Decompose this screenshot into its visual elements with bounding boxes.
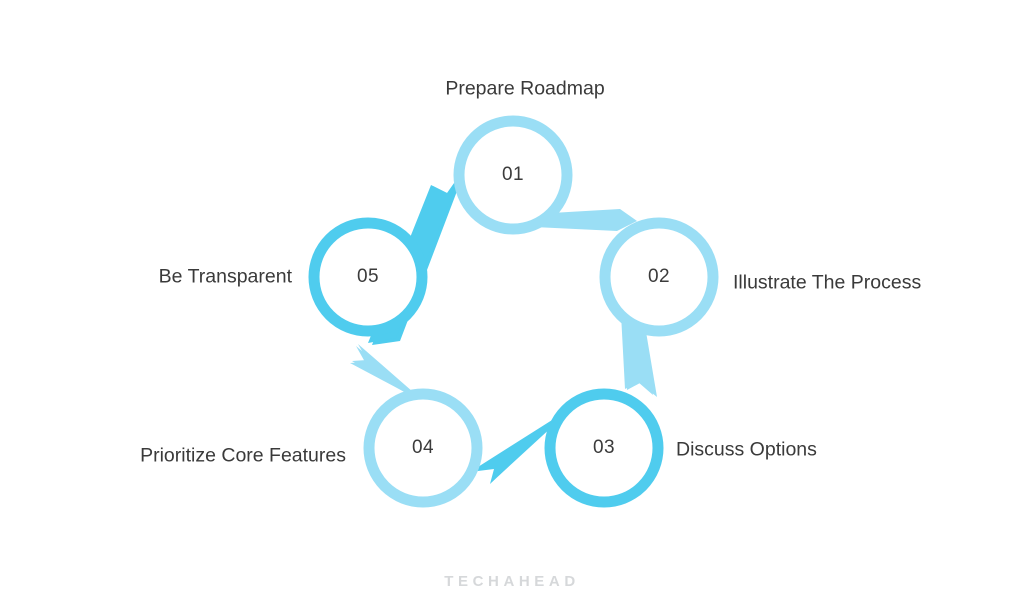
step-number-02: 02 (648, 266, 670, 288)
step-number-03: 03 (593, 437, 615, 459)
step-label-illustrate-the-process: Illustrate The Process (733, 272, 921, 295)
step-label-discuss-options: Discuss Options (676, 439, 817, 462)
step-number-01: 01 (502, 164, 524, 186)
step-label-prepare-roadmap: Prepare Roadmap (445, 78, 604, 101)
cycle-diagram: 01 02 03 04 05 Prepare Roadmap Illustrat… (0, 0, 1024, 609)
step-number-05: 05 (357, 266, 379, 288)
step-number-04: 04 (412, 437, 434, 459)
brand-watermark: TECHAHEAD (444, 573, 580, 590)
step-label-prioritize-core-features: Prioritize Core Features (140, 445, 346, 468)
step-label-be-transparent: Be Transparent (159, 266, 292, 289)
